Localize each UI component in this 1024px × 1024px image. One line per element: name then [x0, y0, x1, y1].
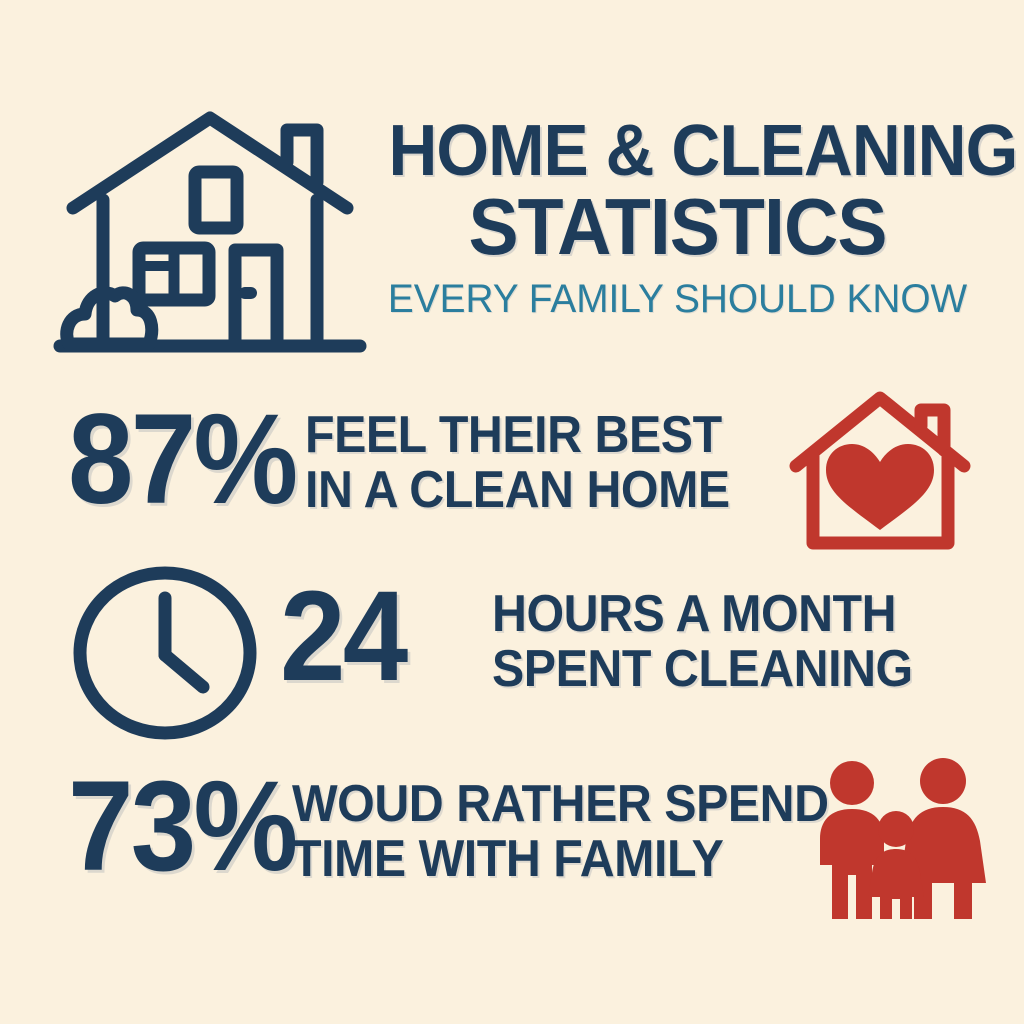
stat-3-line-2: TIME WITH FAMILY: [292, 832, 829, 887]
clock-minute-hand: [165, 655, 203, 687]
stat-3-line-1: WOUD RATHER SPEND: [292, 777, 829, 832]
mother-head: [920, 758, 966, 804]
house-outline-icon: [55, 100, 365, 360]
clock-icon: [70, 565, 260, 740]
stat-row-2: 24 HOURS A MONTH SPENT CLEANING: [0, 565, 1024, 750]
house-door: [235, 250, 277, 346]
stat-1-text: FEEL THEIR BEST IN A CLEAN HOME: [305, 408, 730, 518]
title-block: HOME & CLEANING STATISTICS EVERY FAMILY …: [370, 118, 985, 320]
stat-1-line-2: IN A CLEAN HOME: [305, 463, 730, 518]
house-with-heart-icon: [788, 388, 973, 558]
stat-row-1: 87% FEEL THEIR BEST IN A CLEAN HOME: [0, 390, 1024, 570]
page-subtitle: EVERY FAMILY SHOULD KNOW: [379, 278, 976, 320]
heart-shape: [826, 444, 934, 530]
father-head: [830, 761, 874, 805]
house-attic-window: [195, 172, 237, 228]
stat-3-figure: 73%: [68, 763, 295, 891]
stat-2-line-1: HOURS A MONTH: [492, 587, 913, 642]
family-icon: [810, 759, 985, 924]
stat-3-text: WOUD RATHER SPEND TIME WITH FAMILY: [292, 777, 829, 887]
stat-row-3: 73% WOUD RATHER SPEND TIME WITH FAMILY: [0, 755, 1024, 940]
clock-icon-svg: [70, 565, 260, 740]
child-head: [878, 811, 914, 847]
stat-2-figure: 24: [280, 573, 405, 701]
stat-1-line-1: FEEL THEIR BEST: [305, 408, 730, 463]
stat-2-line-2: SPENT CLEANING: [492, 642, 913, 697]
page-title-line-1: HOME & CLEANING: [388, 118, 966, 184]
stat-1-figure: 87%: [68, 396, 295, 524]
stat-2-text: HOURS A MONTH SPENT CLEANING: [492, 587, 913, 697]
infographic-canvas: HOME & CLEANING STATISTICS EVERY FAMILY …: [0, 0, 1024, 1024]
family-icon-svg: [810, 759, 985, 924]
page-title-line-2: STATISTICS: [388, 190, 966, 264]
house-with-heart-icon-svg: [788, 388, 973, 558]
house-outline-icon-svg: [55, 100, 365, 360]
